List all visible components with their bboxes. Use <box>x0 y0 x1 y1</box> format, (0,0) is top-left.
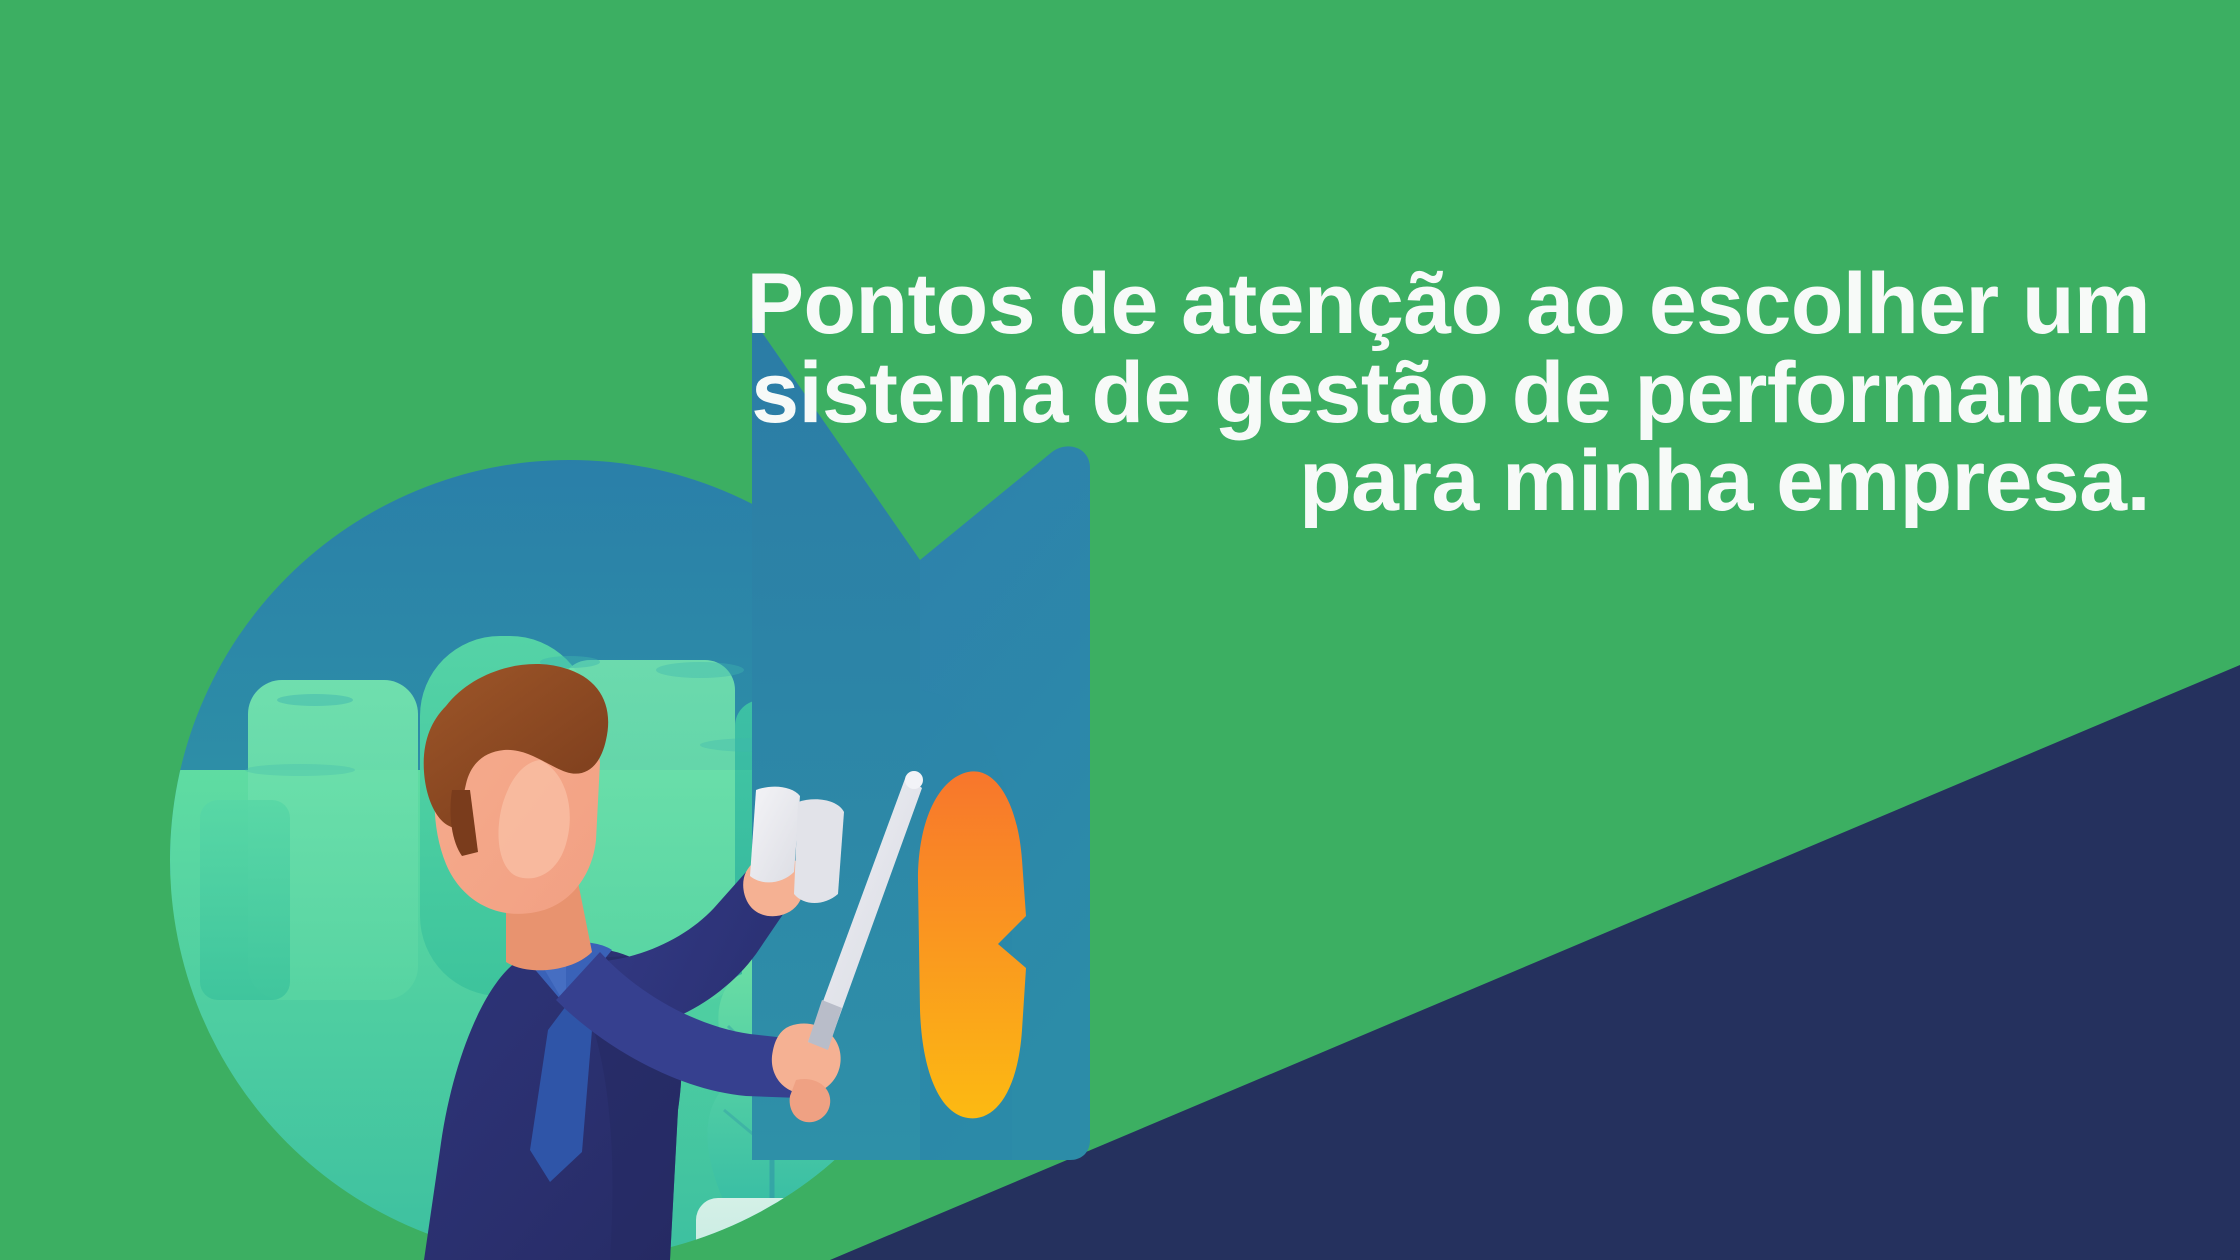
businessman-presenting-illustration <box>0 0 2240 1260</box>
cloud-wisp-3 <box>656 662 744 678</box>
paper-sheet-front <box>794 799 844 903</box>
cloud-wisp-1 <box>277 694 353 706</box>
board-flag-shape <box>752 318 920 1160</box>
plant-pot <box>696 1198 876 1260</box>
slide-canvas: Pontos de atenção ao escolher um sistema… <box>0 0 2240 1260</box>
paper-sheet-back <box>750 787 800 883</box>
building-small-left <box>200 800 290 1000</box>
pointer-tip <box>905 771 923 789</box>
cloud-wisp-5 <box>245 764 355 776</box>
